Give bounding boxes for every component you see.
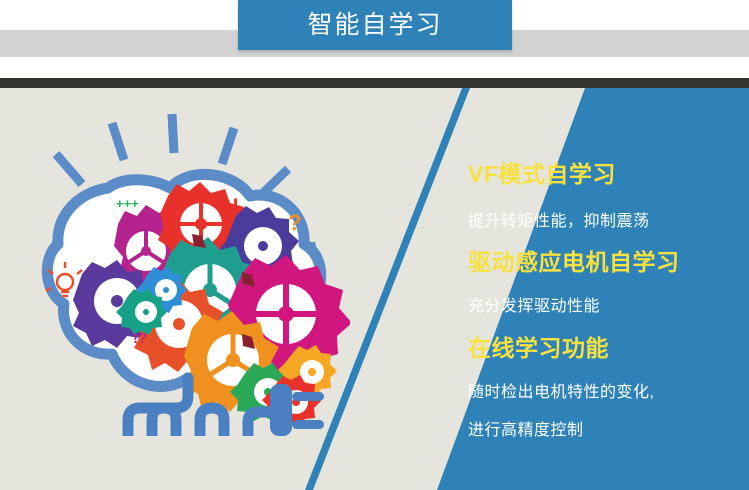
content-stage: ! ? !? +++ xyxy=(0,88,749,490)
brain-gears-illustration: ! ? !? +++ xyxy=(20,96,350,436)
dark-divider-bar xyxy=(0,78,749,88)
exclamation-symbol: ! xyxy=(232,194,239,219)
page-title: 智能自学习 xyxy=(307,13,442,38)
feature-desc-precision-control: 进行高精度控制 xyxy=(468,423,584,439)
feature-text-column: VF模式自学习 提升转矩性能，抑制震荡 驱动感应电机自学习 充分发挥驱动性能 在… xyxy=(468,88,738,490)
page-title-tab: 智能自学习 xyxy=(238,0,512,50)
interrobang-symbol: !? xyxy=(133,330,147,347)
feature-heading-induction-motor: 驱动感应电机自学习 xyxy=(468,251,680,274)
promo-banner-page: 智能自学习 xyxy=(0,0,749,490)
header-white-gap xyxy=(0,57,749,78)
feature-desc-torque: 提升转矩性能，抑制震荡 xyxy=(468,214,650,230)
feature-heading-online-learning: 在线学习功能 xyxy=(468,337,609,360)
plus-symbol: +++ xyxy=(116,196,139,211)
question-symbol: ? xyxy=(288,210,301,235)
feature-desc-detect-change: 随时检出电机特性的变化, xyxy=(468,385,654,401)
feature-desc-drive-performance: 充分发挥驱动性能 xyxy=(468,299,600,315)
feature-heading-vf-mode: VF模式自学习 xyxy=(468,163,616,186)
